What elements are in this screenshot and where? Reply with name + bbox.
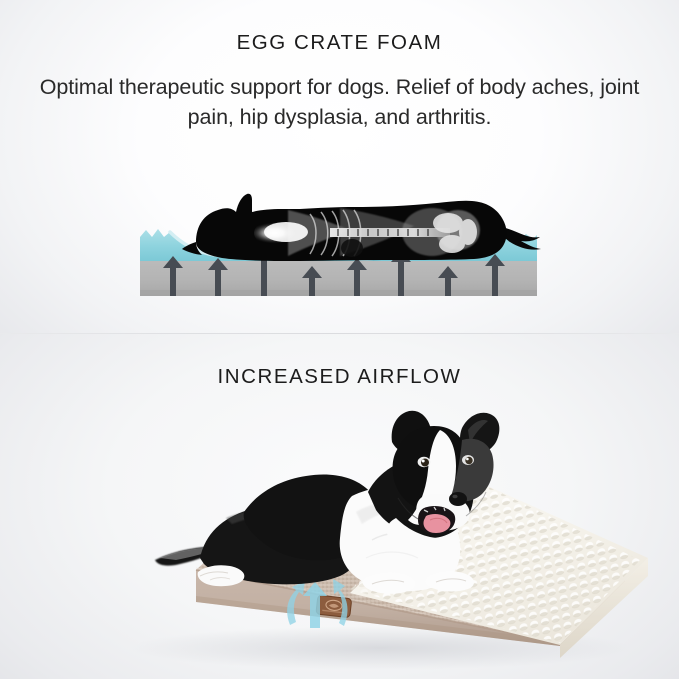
dog-nose — [449, 492, 467, 506]
section-title-egg-crate-foam: EGG CRATE FOAM — [0, 31, 679, 55]
section-subtitle-therapeutic-support: Optimal therapeutic support for dogs. Re… — [34, 72, 645, 132]
dog-xray-foam-diagram — [0, 160, 679, 320]
section-title-increased-airflow: INCREASED AIRFLOW — [0, 365, 679, 389]
dog-bed-product-photo — [0, 400, 679, 679]
dog-front-paw-left — [198, 565, 245, 586]
dog-silhouette-with-xray — [182, 194, 541, 261]
egg-crate-foam-section: EGG CRATE FOAM Optimal therapeutic suppo… — [0, 0, 679, 334]
infographic-page: EGG CRATE FOAM Optimal therapeutic suppo… — [0, 0, 679, 679]
